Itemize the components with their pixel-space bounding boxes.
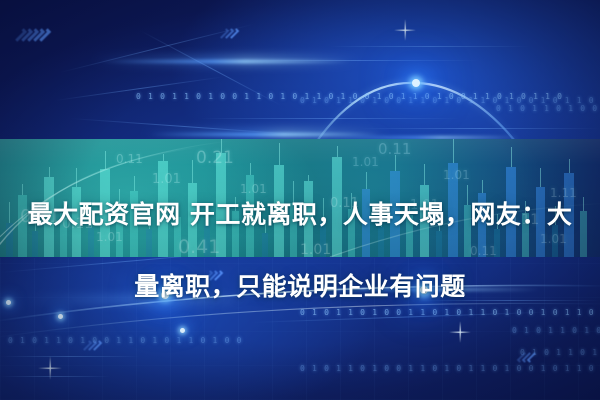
headline-line-1: 最大配资官网 开工就离职，人事天塌，网友：大 (0, 197, 600, 233)
headline-text: 最大配资官网 开工就离职，人事天塌，网友：大 量离职，只能说明企业有问题 (0, 161, 600, 341)
headline-line-2: 量离职，只能说明企业有问题 (0, 269, 600, 305)
banner-image: 0 1 0 1 1 0 1 0 0 1 1 0 1 0 1 1 0 1 0 0 … (0, 0, 600, 400)
